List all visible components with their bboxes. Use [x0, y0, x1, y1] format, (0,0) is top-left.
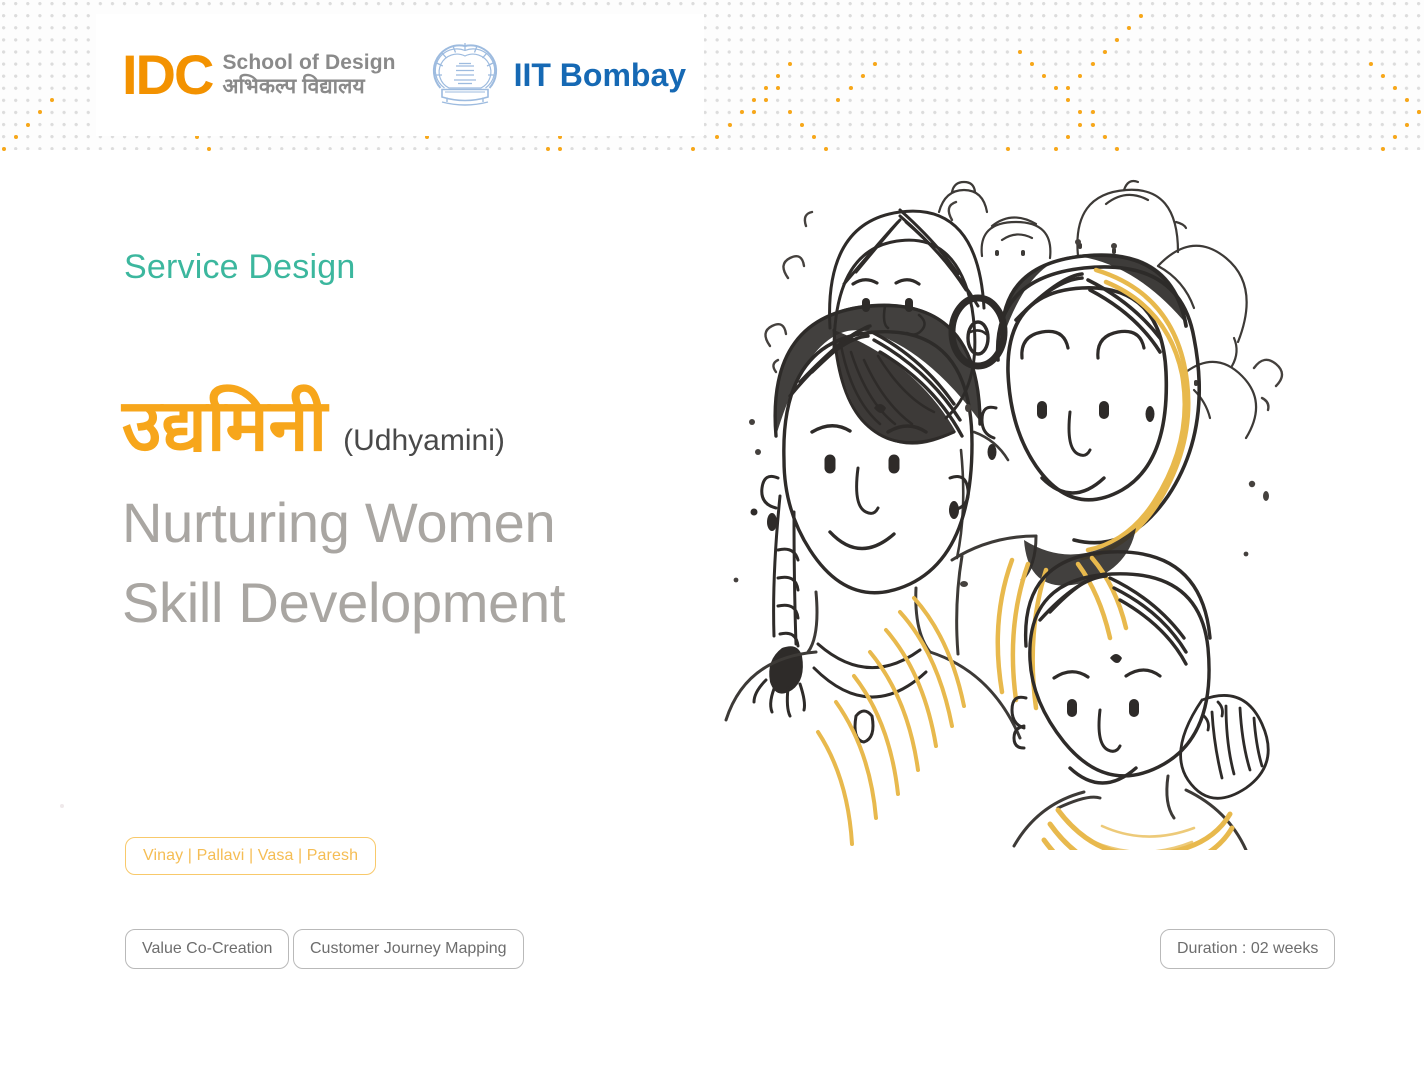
project-subtitle: Nurturing Women Skill Development — [122, 483, 565, 642]
kicker-service-design: Service Design — [124, 248, 355, 287]
tag-customer-journey-mapping: Customer Journey Mapping — [293, 929, 524, 969]
idc-hindi-label: अभिकल्प विद्यालय — [222, 75, 395, 99]
project-subtitle-line-2: Skill Development — [122, 563, 565, 643]
iit-bombay-logo: IIT Bombay — [432, 39, 686, 111]
group-of-women-sketch-illustration — [706, 160, 1316, 850]
authors-pill: Vinay | Pallavi | Vasa | Paresh — [125, 837, 376, 875]
project-title-hindi: उद्यमिनी — [122, 390, 327, 462]
stray-speck — [60, 804, 64, 808]
iit-bombay-label: IIT Bombay — [514, 57, 686, 94]
institution-logo-bar: IDC School of Design अभिकल्प विद्यालय — [96, 14, 704, 136]
tag-duration: Duration : 02 weeks — [1160, 929, 1335, 969]
tag-value-co-creation: Value Co-Creation — [125, 929, 289, 969]
idc-logo: IDC School of Design अभिकल्प विद्यालय — [96, 47, 396, 103]
idc-wordmark: IDC — [96, 47, 212, 103]
iit-bombay-seal-icon — [432, 39, 498, 111]
project-title: उद्यमिनी (Udhyamini) — [122, 390, 505, 462]
project-title-romanized: (Udhyamini) — [343, 424, 505, 458]
idc-school-of-design-label: School of Design — [222, 51, 395, 75]
idc-subtitle-group: School of Design अभिकल्प विद्यालय — [222, 51, 395, 98]
slide-canvas: IDC School of Design अभिकल्प विद्यालय — [0, 0, 1424, 1080]
project-subtitle-line-1: Nurturing Women — [122, 483, 565, 563]
